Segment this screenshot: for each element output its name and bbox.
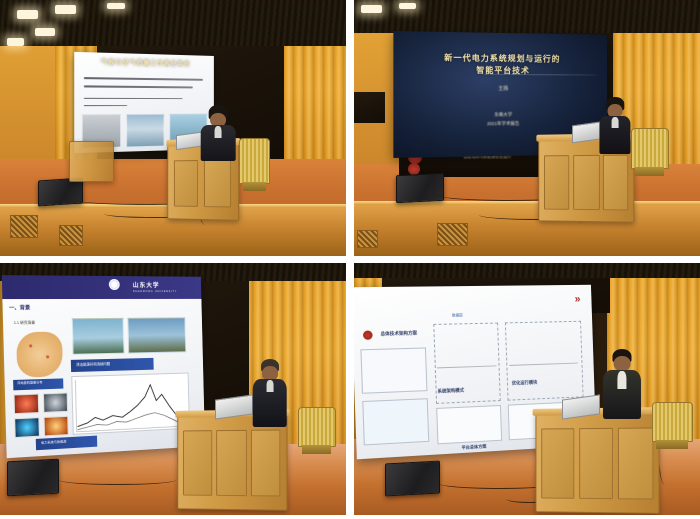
seated-presenter[interactable] [201, 105, 236, 161]
panel-label-right-text: 清洁能源并网消纳问题 [76, 360, 110, 366]
slide-presenter-name: 王扬 [393, 85, 606, 92]
map-marker [29, 344, 32, 347]
wind-farm-photo [128, 317, 186, 352]
lectern-panel [217, 430, 247, 496]
presenter-shirt [618, 371, 627, 389]
lectern[interactable] [178, 413, 288, 510]
thumbnail-grid [14, 416, 40, 437]
diagram-block-right [505, 320, 584, 401]
panel-label-right: 清洁能源并网消纳问题 [71, 357, 154, 372]
slide-text-line [83, 97, 182, 99]
apron-vent [437, 223, 468, 246]
panel-label-bottom: 电力系统与新能源 [36, 435, 98, 450]
diagram-block-center-bottom [436, 404, 502, 444]
lectern-panel [544, 156, 570, 210]
line-chart-svg [72, 373, 188, 433]
photo-bottom-left[interactable]: 山东大学 SHANDONG UNIVERSITY 一、背景 1.1 研究背景 风… [0, 263, 346, 515]
chair-legs [243, 182, 266, 191]
ceiling-light [107, 3, 124, 9]
standing-presenter[interactable] [603, 349, 641, 420]
lectern-panel [604, 155, 629, 210]
panel-label-left-text: 风电装机容量分布 [17, 380, 42, 385]
university-emblem-icon [109, 279, 120, 290]
diagram-label-right: 优化运行模块 [512, 380, 538, 387]
diagram-block-left-bottom [363, 398, 430, 445]
standing-presenter[interactable] [253, 359, 288, 427]
stage-monitor-speaker [385, 461, 440, 497]
apron-vent [357, 230, 378, 248]
slide-affiliation-line-1: 东南大学 [393, 111, 606, 118]
diagram-block-left-top [361, 347, 428, 394]
line-chart [71, 372, 189, 435]
university-name-en: SHANDONG UNIVERSITY [133, 290, 177, 293]
stage-monitor-speaker [7, 458, 59, 496]
slide-text-line [83, 104, 127, 106]
projection-screen[interactable]: 山东大学 SHANDONG UNIVERSITY 一、背景 1.1 研究背景 风… [2, 275, 205, 459]
ceiling-light [361, 5, 382, 13]
chair-legs [656, 440, 688, 449]
photo-bottom-right[interactable]: » 总体技术架构方案 数据层 系统架构模式 优化运行模块 平台总体方案 [354, 263, 700, 515]
lectern-panel [251, 430, 281, 497]
diagram-label-left: 系统架构模式 [438, 388, 465, 395]
panel-label-bottom-text: 电力系统与新能源 [41, 438, 67, 445]
photo-top-right[interactable]: 新一代电力系统规划与运行的 智能平台技术 王扬 东南大学 2021年学术报告 智… [354, 0, 700, 256]
photo-top-left[interactable]: 气候与空气质量工作真空革命 [0, 0, 346, 256]
lectern-panel [184, 430, 213, 495]
side-lectern[interactable] [69, 141, 114, 182]
slide-text-line [83, 85, 193, 88]
diagram-label-bottom: 平台总体方案 [462, 443, 487, 450]
stage-monitor-speaker [396, 173, 444, 204]
lectern[interactable] [535, 411, 659, 513]
ceiling-light [17, 10, 38, 19]
lectern-panel [204, 160, 231, 207]
ceiling-panels [354, 263, 700, 278]
ceiling-light [399, 3, 416, 10]
lectern-panel [579, 427, 613, 498]
presenter-shirt [612, 117, 619, 128]
university-name-cn: 山东大学 [133, 279, 160, 288]
ceiling-light [35, 28, 56, 36]
slide-text-line [83, 77, 203, 80]
slide-title: 气候与空气质量工作真空革命 [74, 56, 214, 68]
apron-vent [59, 225, 83, 245]
ceiling-panels [0, 0, 346, 46]
chevron-logo-icon: » [575, 294, 581, 305]
chair-legs [635, 167, 664, 176]
stage-chair[interactable] [298, 407, 336, 447]
slide-title-line-1: 新一代电力系统规划与运行的 [393, 52, 606, 65]
photo-collage-grid: 气候与空气质量工作真空革命 [0, 0, 700, 519]
presenter-shirt [215, 126, 222, 138]
chair-legs [302, 445, 331, 454]
slide-thumbnail [126, 114, 165, 148]
presenter-shirt [266, 380, 273, 392]
thumbnail-cyclone [43, 392, 68, 413]
lectern-panel [618, 427, 653, 499]
apron-vent [10, 215, 38, 238]
stage-chair[interactable] [631, 128, 669, 169]
thumbnail-fusion [44, 415, 69, 436]
floor-cable [59, 475, 177, 485]
map-marker [46, 354, 49, 357]
diagram-label-center: 数据层 [452, 313, 463, 318]
ceiling-light [55, 5, 76, 14]
stage-chair[interactable] [239, 138, 270, 184]
wall-alcove [354, 92, 385, 123]
slide-section-title: 一、背景 [9, 304, 30, 311]
ceiling-light [7, 38, 24, 46]
panel-label-left: 风电装机容量分布 [13, 378, 63, 391]
slide-title: 总体技术架构方案 [381, 330, 418, 337]
wind-farm-photo [72, 318, 125, 354]
lectern-panel [174, 161, 199, 207]
slide-logo-icon [363, 330, 373, 340]
china-map-graphic [16, 331, 63, 377]
stage-chair[interactable] [652, 402, 694, 442]
stage-monitor-speaker [38, 178, 83, 207]
lectern-panel [574, 156, 600, 211]
slide-subsection-title: 1.1 研究背景 [14, 320, 36, 325]
thumbnail-plasma [13, 393, 39, 414]
slide-header-bar: 山东大学 SHANDONG UNIVERSITY [2, 275, 201, 299]
lectern-panel [541, 428, 574, 499]
standing-presenter[interactable] [600, 97, 631, 153]
